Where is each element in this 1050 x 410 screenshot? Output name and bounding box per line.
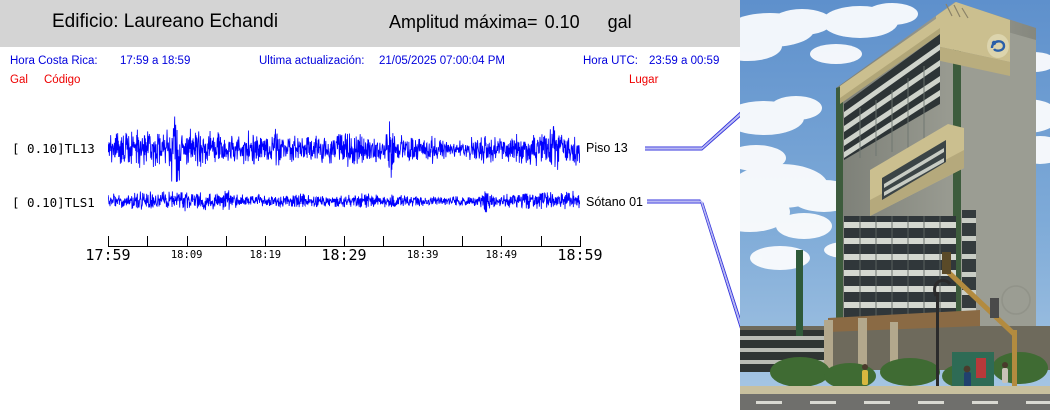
local-time-value: 17:59 a 18:59 — [120, 55, 190, 67]
axis-tick-label: 18:29 — [321, 246, 366, 264]
waveform-trace-tls1 — [108, 176, 580, 226]
channel-place-piso13: Piso 13 — [586, 141, 628, 155]
axis-tick-label: 18:49 — [486, 249, 518, 261]
axis-tick-label: 18:09 — [171, 249, 203, 261]
axis-tick-label: 18:19 — [250, 249, 282, 261]
utc-time-label: Hora UTC: — [583, 55, 638, 67]
max-amplitude-readout: Amplitud máxima=0.10gal — [389, 12, 632, 33]
axis-tick — [383, 236, 384, 247]
waveform-trace-tl13 — [108, 116, 580, 182]
axis-tick — [501, 236, 502, 247]
axis-tick — [541, 236, 542, 247]
last-update-value: 21/05/2025 07:00:04 PM — [379, 55, 505, 67]
max-amplitude-value: 0.10 — [545, 12, 580, 32]
max-amplitude-unit: gal — [608, 12, 632, 32]
axis-tick — [305, 236, 306, 247]
last-update-label: Ultima actualización: — [259, 55, 364, 67]
max-amplitude-label: Amplitud máxima= — [389, 12, 538, 32]
axis-tick — [423, 236, 424, 247]
local-time-label: Hora Costa Rica: — [10, 55, 98, 67]
column-header-gal: Gal — [10, 74, 28, 86]
axis-tick-label: 18:59 — [557, 246, 602, 264]
axis-tick — [265, 236, 266, 247]
axis-tick — [187, 236, 188, 247]
waveform-path — [108, 117, 580, 182]
channel-label-tl13: [ 0.10]TL13 — [12, 141, 95, 156]
waveform-path — [108, 190, 580, 212]
channel-place-sotano01: Sótano 01 — [586, 195, 643, 209]
building-photo — [740, 0, 1050, 410]
page-title: Edificio: Laureano Echandi — [52, 11, 278, 33]
title-bar: Edificio: Laureano Echandi Amplitud máxi… — [0, 0, 740, 47]
column-header-codigo: Código — [44, 74, 80, 86]
axis-tick-label: 17:59 — [85, 246, 130, 264]
axis-tick — [147, 236, 148, 247]
channel-label-tls1: [ 0.10]TLS1 — [12, 195, 95, 210]
axis-tick-label: 18:39 — [407, 249, 439, 261]
axis-tick — [462, 236, 463, 247]
axis-tick — [226, 236, 227, 247]
seismograph-panel: Edificio: Laureano Echandi Amplitud máxi… — [0, 0, 740, 410]
column-header-lugar: Lugar — [629, 74, 658, 86]
time-axis: 17:5918:0918:1918:2918:3918:4918:59 — [108, 236, 580, 266]
utc-time-value: 23:59 a 00:59 — [649, 55, 719, 67]
